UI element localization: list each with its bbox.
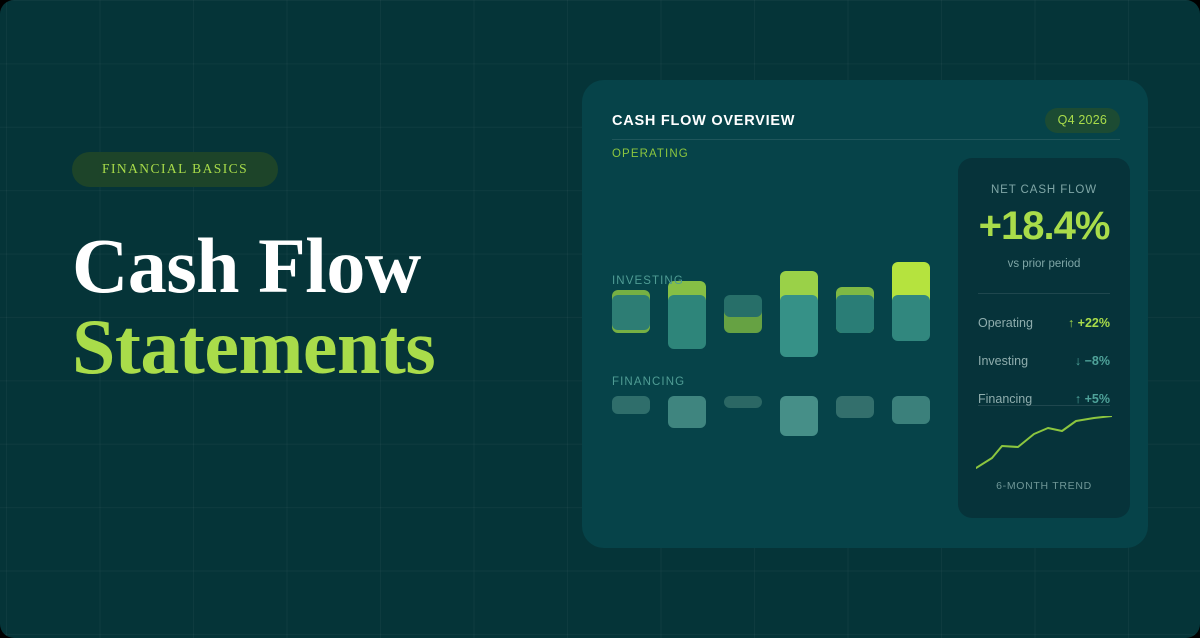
bar-financing-4[interactable] [780,396,818,436]
bar-investing-6[interactable] [892,295,930,341]
net-cash-flow-subtext: vs prior period [958,258,1130,270]
panel-divider-bottom [978,405,1110,406]
panel-divider-top [978,293,1110,294]
bar-investing-1[interactable] [612,295,650,330]
bar-investing-5[interactable] [836,295,874,333]
bar-financing-3[interactable] [724,396,762,408]
category-badge: FINANCIAL BASICS [72,152,278,187]
bar-investing-4[interactable] [780,295,818,357]
net-cash-flow-value: +18.4% [958,204,1130,249]
metric-row: Operating↑ +22% [978,308,1110,338]
bar-financing-5[interactable] [836,396,874,418]
metric-name: Financing [978,392,1032,406]
series-label-financing: FINANCING [612,376,685,388]
bar-group-financing [612,396,958,456]
metric-name: Investing [978,354,1028,368]
trend-caption: 6-MONTH TREND [958,480,1130,492]
metric-row: Investing↓ −8% [978,346,1110,376]
trend-sparkline [976,416,1112,478]
bar-chart: OPERATING INVESTING FINANCING [612,148,958,518]
poster-canvas: FINANCIAL BASICS Cash Flow Statements CA… [0,0,1200,638]
bar-financing-1[interactable] [612,396,650,414]
series-label-investing: INVESTING [612,275,684,287]
metric-row: Financing↑ +5% [978,384,1110,414]
title-line-2: Statements [72,308,542,385]
title-line-1: Cash Flow [72,227,542,304]
metric-value: ↑ +22% [1068,316,1110,330]
cash-flow-card: CASH FLOW OVERVIEW Q4 2026 OPERATING INV… [582,80,1148,548]
page-title: Cash Flow Statements [72,227,542,385]
hero-section: FINANCIAL BASICS Cash Flow Statements [72,152,542,385]
bar-financing-6[interactable] [892,396,930,424]
net-cash-flow-panel: NET CASH FLOW +18.4% vs prior period Ope… [958,158,1130,518]
period-badge[interactable]: Q4 2026 [1045,108,1120,133]
metric-value: ↑ +5% [1075,392,1110,406]
card-header: CASH FLOW OVERVIEW Q4 2026 [612,108,1120,133]
card-title: CASH FLOW OVERVIEW [612,113,795,129]
metric-value: ↓ −8% [1075,354,1110,368]
header-divider [612,139,1120,140]
net-cash-flow-label: NET CASH FLOW [958,184,1130,196]
bar-group-investing [612,295,958,375]
metric-name: Operating [978,316,1033,330]
bar-investing-2[interactable] [668,295,706,349]
bar-financing-2[interactable] [668,396,706,428]
bar-investing-3[interactable] [724,295,762,317]
